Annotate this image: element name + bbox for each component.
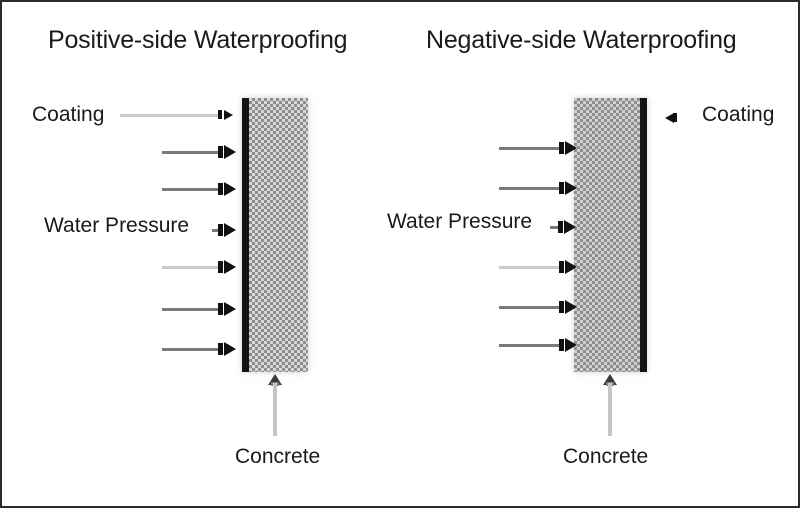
pointer-shaft — [608, 383, 612, 436]
pointer-shaft — [120, 114, 220, 117]
water-pressure-arrow — [162, 186, 242, 192]
arrowhead-right-icon — [565, 260, 577, 274]
arrow-shaft — [162, 188, 220, 191]
panel-title-negative-side: Negative-side Waterproofing — [426, 26, 737, 55]
water-pressure-arrow — [499, 185, 583, 191]
arrowhead-right-icon — [565, 181, 577, 195]
water-pressure-arrow — [162, 264, 242, 270]
waterproofing-diagram: Positive-side Waterproofing — [0, 0, 800, 508]
arrowhead-right-icon — [564, 220, 576, 234]
water-pressure-arrow — [162, 346, 242, 352]
arrow-shaft — [499, 187, 561, 190]
water-pressure-arrow — [162, 306, 242, 312]
arrow-shaft — [162, 266, 220, 269]
arrow-nub — [218, 261, 223, 273]
water-pressure-arrow — [499, 304, 583, 310]
arrowhead-right-icon — [224, 145, 236, 159]
arrow-nub — [559, 261, 564, 273]
arrowhead-right-icon — [224, 223, 236, 237]
arrowhead-right-icon — [224, 302, 236, 316]
panel-title-positive-side: Positive-side Waterproofing — [48, 26, 347, 55]
arrow-nub — [558, 221, 563, 233]
wall-assembly-negative-side — [574, 98, 647, 372]
arrow-nub — [559, 339, 564, 351]
pointer-shaft — [273, 383, 277, 436]
coating-layer — [640, 98, 647, 372]
coating-pointer-negative — [665, 115, 687, 121]
arrow-shaft — [162, 348, 220, 351]
water-pressure-arrow — [499, 264, 583, 270]
arrow-shaft — [499, 344, 561, 347]
concrete-layer — [574, 98, 640, 372]
coating-pointer-positive — [120, 112, 240, 118]
water-pressure-arrow — [499, 145, 583, 151]
concrete-label: Concrete — [235, 445, 320, 469]
water-pressure-arrow — [499, 342, 583, 348]
concrete-pointer-negative — [603, 374, 617, 436]
coating-layer — [242, 98, 249, 372]
water-pressure-label: Water Pressure — [44, 214, 189, 238]
arrowhead-right-icon — [224, 342, 236, 356]
concrete-pointer-positive — [268, 374, 282, 436]
coating-label: Coating — [32, 103, 104, 127]
arrow-nub — [218, 183, 223, 195]
arrow-nub — [218, 303, 223, 315]
water-pressure-label: Water Pressure — [387, 210, 532, 234]
arrow-nub — [218, 224, 223, 236]
arrow-nub — [218, 343, 223, 355]
arrowhead-right-icon — [565, 141, 577, 155]
arrow-nub — [559, 301, 564, 313]
arrowhead-right-icon — [565, 338, 577, 352]
arrow-shaft — [499, 147, 561, 150]
arrowhead-right-icon — [565, 300, 577, 314]
pointer-nub — [218, 110, 222, 119]
concrete-layer — [249, 98, 308, 372]
arrow-shaft — [162, 151, 220, 154]
arrowhead-right-icon — [224, 260, 236, 274]
arrow-nub — [559, 142, 564, 154]
arrowhead-right-icon — [224, 110, 233, 120]
arrow-nub — [218, 146, 223, 158]
arrow-nub — [559, 182, 564, 194]
water-pressure-arrow — [162, 149, 242, 155]
coating-label: Coating — [702, 103, 774, 127]
arrow-shaft — [499, 306, 561, 309]
pointer-nub — [673, 113, 677, 122]
concrete-label: Concrete — [563, 445, 648, 469]
arrow-shaft — [499, 266, 561, 269]
wall-assembly-positive-side — [242, 98, 308, 372]
water-pressure-arrow — [212, 227, 242, 233]
water-pressure-arrow — [550, 224, 584, 230]
arrowhead-right-icon — [224, 182, 236, 196]
arrow-shaft — [162, 308, 220, 311]
